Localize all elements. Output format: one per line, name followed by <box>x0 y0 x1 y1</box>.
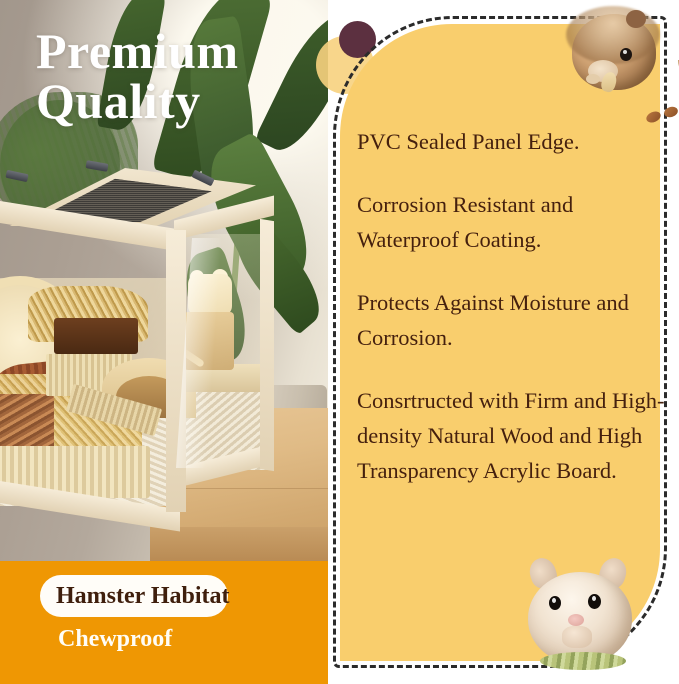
headline-line-2: Quality <box>36 76 316 126</box>
feature-item: Consrtructed with Firm and High-density … <box>357 383 667 488</box>
hamster-paws <box>562 626 592 648</box>
brown-hamster-photo <box>566 2 660 98</box>
cage-wood-post <box>260 219 274 471</box>
cream-hamster-photo <box>516 552 648 676</box>
hamster-eye-icon <box>588 594 601 609</box>
infographic-canvas: Premium Quality PVC Sealed Panel Edge. C… <box>0 0 679 684</box>
product-feature-label: Chewproof <box>58 623 172 655</box>
feature-item: PVC Sealed Panel Edge. <box>357 124 667 159</box>
hamster-fur-highlight <box>566 6 660 64</box>
cage-hinge <box>5 170 28 182</box>
wooden-hide-box <box>54 318 138 354</box>
green-seeds-pile <box>540 652 626 670</box>
hamster-nose-icon <box>568 614 584 626</box>
hamster-eye-icon <box>620 48 632 61</box>
headline-line-1: Premium <box>36 23 239 79</box>
footer-bar: Hamster Habitat Chewproof <box>0 561 328 684</box>
wooden-table-edge <box>150 527 328 561</box>
headline: Premium Quality <box>36 26 316 126</box>
hamster-paw <box>586 74 600 84</box>
feature-list: PVC Sealed Panel Edge. Corrosion Resista… <box>357 124 667 488</box>
hamster-cage <box>0 168 280 524</box>
product-category-label: Hamster Habitat <box>56 579 296 613</box>
hamster-ear-icon <box>626 10 646 28</box>
hamster-eye-icon <box>549 596 561 610</box>
feature-item: Corrosion Resistant and Waterproof Coati… <box>357 187 667 257</box>
feature-item: Protects Against Moisture and Corrosion. <box>357 285 667 355</box>
